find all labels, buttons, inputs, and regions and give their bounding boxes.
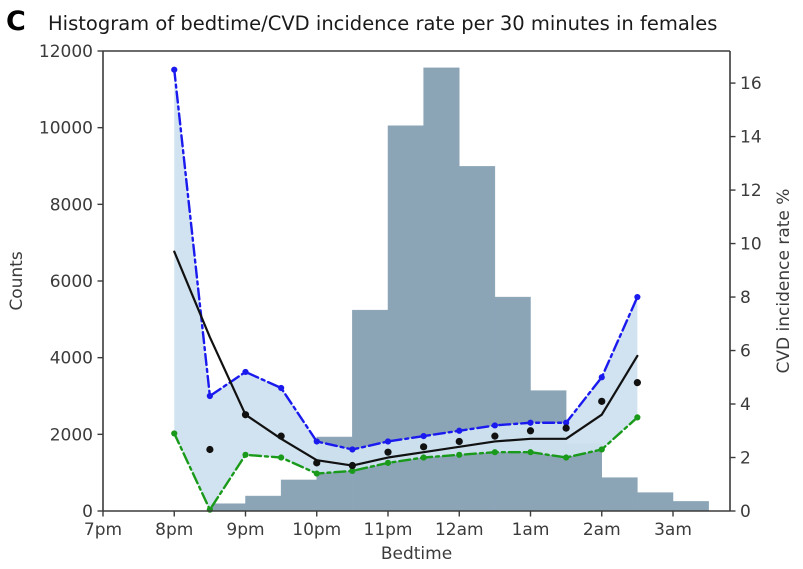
y-axis-tick-label: 0 bbox=[82, 502, 93, 522]
x-axis-tick-label: 1am bbox=[512, 520, 550, 540]
y2-axis-tick-label: 4 bbox=[740, 395, 751, 415]
series-marker bbox=[599, 446, 605, 452]
histogram-bar bbox=[602, 478, 638, 511]
y-axis-tick-label: 12000 bbox=[39, 42, 93, 62]
y-axis-tick-label: 2000 bbox=[50, 425, 93, 445]
histogram-bar bbox=[495, 297, 531, 511]
series-marker bbox=[314, 438, 320, 444]
histogram-bar bbox=[637, 493, 673, 511]
scatter-point bbox=[598, 398, 605, 405]
series-marker bbox=[492, 449, 498, 455]
series-marker bbox=[349, 446, 355, 452]
y2-axis-tick-label: 8 bbox=[740, 288, 751, 308]
chart-svg: 0200040006000800010000120000246810121416… bbox=[0, 0, 803, 569]
scatter-point bbox=[527, 427, 534, 434]
scatter-point bbox=[420, 443, 427, 450]
x-axis-title: Bedtime bbox=[381, 544, 452, 564]
series-marker bbox=[278, 454, 284, 460]
y-axis-tick-label: 4000 bbox=[50, 349, 93, 369]
series-marker bbox=[527, 420, 533, 426]
scatter-point bbox=[206, 446, 213, 453]
histogram-bar bbox=[246, 496, 282, 511]
series-marker bbox=[278, 385, 284, 391]
series-marker bbox=[421, 433, 427, 439]
x-axis-tick-label: 3am bbox=[654, 520, 692, 540]
series-marker bbox=[421, 454, 427, 460]
y2-axis-tick-label: 10 bbox=[740, 235, 762, 255]
series-marker bbox=[207, 393, 213, 399]
x-axis-tick-label: 9pm bbox=[226, 520, 264, 540]
series-marker bbox=[456, 452, 462, 458]
histogram-bar bbox=[673, 501, 709, 511]
scatter-point bbox=[491, 433, 498, 440]
y2-axis-tick-label: 0 bbox=[740, 502, 751, 522]
series-marker bbox=[207, 507, 213, 513]
scatter-point bbox=[278, 433, 285, 440]
series-marker bbox=[563, 454, 569, 460]
x-axis-tick-label: 7pm bbox=[84, 520, 122, 540]
x-axis-tick-label: 10pm bbox=[292, 520, 341, 540]
series-marker bbox=[456, 428, 462, 434]
series-marker bbox=[242, 369, 248, 375]
series-marker bbox=[314, 470, 320, 476]
scatter-point bbox=[313, 459, 320, 466]
x-axis-tick-label: 2am bbox=[583, 520, 621, 540]
y-axis-tick-label: 10000 bbox=[39, 119, 93, 139]
scatter-point bbox=[456, 438, 463, 445]
series-marker bbox=[171, 430, 177, 436]
y2-axis-tick-label: 12 bbox=[740, 181, 762, 201]
series-marker bbox=[385, 438, 391, 444]
series-marker bbox=[527, 449, 533, 455]
histogram-bar bbox=[281, 480, 317, 511]
histogram-bar bbox=[352, 310, 388, 511]
x-axis-tick-label: 12am bbox=[435, 520, 484, 540]
series-marker bbox=[492, 422, 498, 428]
x-axis-tick-label: 11pm bbox=[364, 520, 413, 540]
scatter-point bbox=[242, 411, 249, 418]
histogram-bar bbox=[459, 166, 495, 511]
series-marker bbox=[634, 294, 640, 300]
y2-axis-tick-label: 14 bbox=[740, 128, 762, 148]
histogram-bar bbox=[210, 504, 246, 511]
scatter-point bbox=[349, 462, 356, 469]
scatter-point bbox=[384, 449, 391, 456]
series-marker bbox=[634, 414, 640, 420]
series-marker bbox=[242, 452, 248, 458]
figure-panel: C Histogram of bedtime/CVD incidence rat… bbox=[0, 0, 803, 569]
series-marker bbox=[385, 460, 391, 466]
series-marker bbox=[171, 67, 177, 73]
y2-axis-tick-label: 16 bbox=[740, 74, 762, 94]
scatter-point bbox=[563, 424, 570, 431]
scatter-point bbox=[634, 379, 641, 386]
y2-axis-tick-label: 2 bbox=[740, 449, 751, 469]
y2-axis-title: CVD incidence rate % bbox=[774, 189, 794, 374]
y2-axis-tick-label: 6 bbox=[740, 342, 751, 362]
y-axis-title: Counts bbox=[7, 251, 27, 310]
y-axis-tick-label: 8000 bbox=[50, 195, 93, 215]
series-marker bbox=[599, 374, 605, 380]
x-axis-tick-label: 8pm bbox=[155, 520, 193, 540]
y-axis-tick-label: 6000 bbox=[50, 272, 93, 292]
